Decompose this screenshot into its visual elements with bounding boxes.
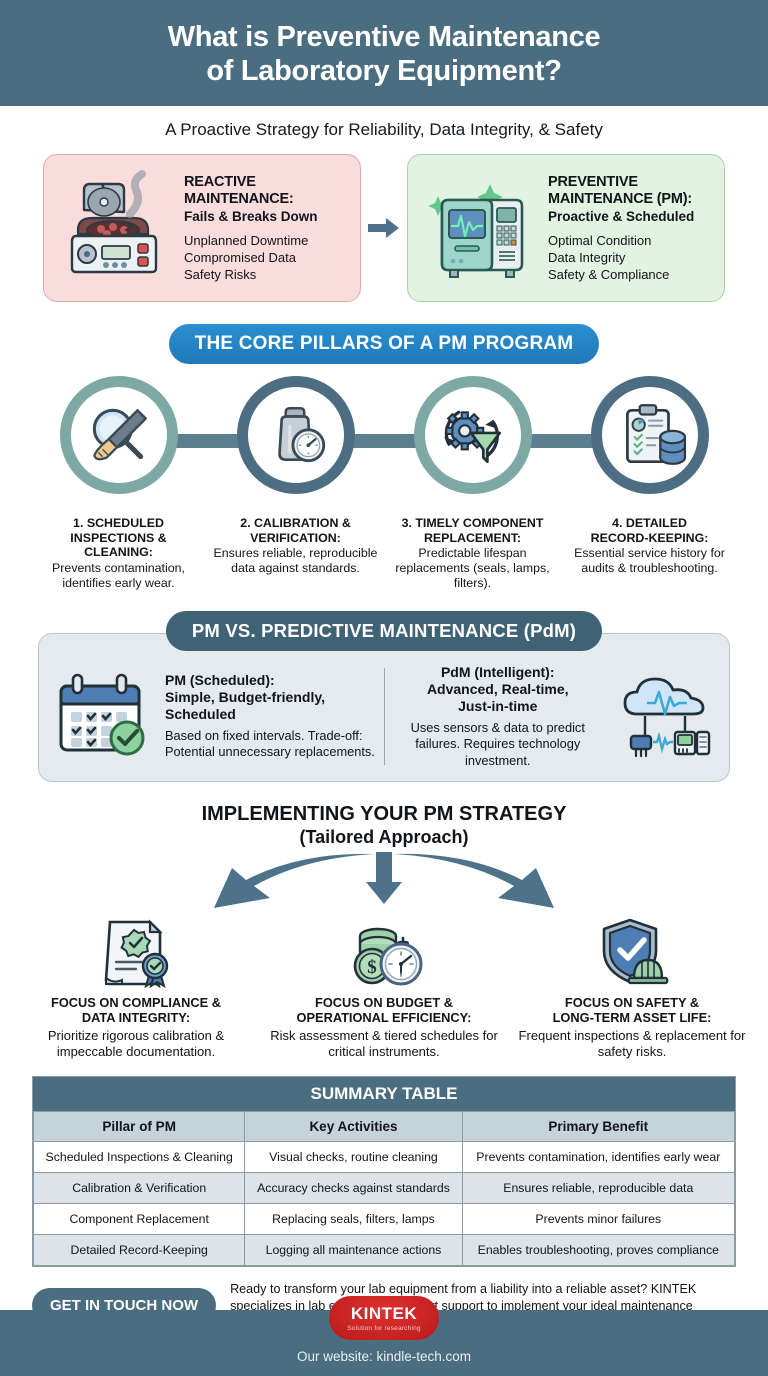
preventive-title-line2: MAINTENANCE (PM):	[548, 191, 692, 207]
reactive-card-subtitle: Fails & Breaks Down	[184, 209, 348, 225]
pillar-circle-3	[384, 376, 561, 494]
pillar-label-4: 4. DETAILED RECORD-KEEPING: Essential se…	[561, 516, 738, 591]
pm-text: PM (Scheduled): Simple, Budget-friendly,…	[165, 672, 376, 760]
focus-title-safety: FOCUS ON SAFETY & LONG-TERM ASSET LIFE:	[514, 995, 750, 1026]
pillar-label-1: 1. SCHEDULED INSPECTIONS & CLEANING: Pre…	[30, 516, 207, 591]
page-title-line2: of Laboratory Equipment?	[206, 55, 561, 87]
pillar-desc-2: Ensures reliable, reproducible data agai…	[213, 546, 378, 576]
preventive-card-title: PREVENTIVE MAINTENANCE (PM):	[548, 174, 712, 208]
kintek-logo-name: KINTEK	[351, 1305, 417, 1322]
reactive-point: Safety Risks	[184, 266, 348, 283]
pillar-title-4: 4. DETAILED RECORD-KEEPING:	[567, 516, 732, 545]
pm-pdm-divider	[384, 668, 385, 765]
pdm-text: PdM (Intelligent): Advanced, Real-time, …	[393, 664, 604, 769]
pm-column: PM (Scheduled): Simple, Budget-friendly,…	[53, 670, 376, 762]
pillar-circle-4	[561, 376, 738, 494]
page-subtitle: A Proactive Strategy for Reliability, Da…	[0, 106, 768, 152]
magnifier-brush-icon	[82, 398, 156, 472]
svg-text:$: $	[367, 957, 377, 978]
pillars-banner-wrap: THE CORE PILLARS OF A PM PROGRAM	[0, 324, 768, 364]
preventive-maintenance-card: PREVENTIVE MAINTENANCE (PM): Proactive &…	[407, 154, 725, 302]
footer-website: Our website: kindle-tech.com	[0, 1349, 768, 1364]
table-cell: Prevents contamination, identifies early…	[462, 1142, 734, 1173]
pillar-desc-1: Prevents contamination, identifies early…	[36, 561, 201, 591]
preventive-card-points: Optimal Condition Data Integrity Safety …	[548, 232, 712, 283]
calendar-check-icon	[53, 670, 157, 762]
strategy-focus-row: FOCUS ON COMPLIANCE & DATA INTEGRITY: Pr…	[0, 910, 768, 1060]
table-cell: Ensures reliable, reproducible data	[462, 1173, 734, 1204]
pillar-label-3: 3. TIMELY COMPONENT REPLACEMENT: Predict…	[384, 516, 561, 591]
focus-item-safety: FOCUS ON SAFETY & LONG-TERM ASSET LIFE: …	[508, 910, 756, 1060]
summary-table: Pillar of PM Key Activities Primary Bene…	[33, 1111, 735, 1266]
table-header-row: Pillar of PM Key Activities Primary Bene…	[34, 1112, 735, 1142]
gear-funnel-cycle-icon	[436, 398, 510, 472]
table-cell: Calibration & Verification	[34, 1173, 245, 1204]
table-cell: Logging all maintenance actions	[245, 1235, 462, 1266]
focus-desc-budget: Risk assessment & tiered schedules for c…	[266, 1028, 502, 1061]
reactive-title-line2: MAINTENANCE:	[184, 191, 294, 207]
preventive-point: Safety & Compliance	[548, 266, 712, 283]
kintek-logo-tagline: Solution for researching	[347, 1325, 420, 1332]
table-row: Detailed Record-Keeping Logging all main…	[34, 1235, 735, 1266]
focus-item-budget: $ FOCUS ON BUD	[260, 910, 508, 1060]
strategy-subtitle: (Tailored Approach)	[0, 826, 768, 849]
table-col-header: Pillar of PM	[34, 1112, 245, 1142]
preventive-point: Optimal Condition	[548, 232, 712, 249]
certificate-seal-icon	[94, 916, 178, 988]
pillar-title-1: 1. SCHEDULED INSPECTIONS & CLEANING:	[36, 516, 201, 560]
table-cell: Detailed Record-Keeping	[34, 1235, 245, 1266]
preventive-card-subtitle: Proactive & Scheduled	[548, 209, 712, 225]
table-row: Component Replacement Replacing seals, f…	[34, 1204, 735, 1235]
focus-title-budget: FOCUS ON BUDGET & OPERATIONAL EFFICIENCY…	[266, 995, 502, 1026]
strategy-title: IMPLEMENTING YOUR PM STRATEGY	[0, 802, 768, 826]
pm-vs-pdm-banner: PM VS. PREDICTIVE MAINTENANCE (PdM)	[166, 611, 602, 651]
comparison-cards: REACTIVE MAINTENANCE: Fails & Breaks Dow…	[0, 154, 768, 302]
table-row: Calibration & Verification Accuracy chec…	[34, 1173, 735, 1204]
table-cell: Enables troubleshooting, proves complian…	[462, 1235, 734, 1266]
table-col-header: Key Activities	[245, 1112, 462, 1142]
page-title-line1: What is Preventive Maintenance	[168, 21, 601, 53]
reactive-point: Unplanned Downtime	[184, 232, 348, 249]
pm-vs-pdm-section: PM VS. PREDICTIVE MAINTENANCE (PdM)	[0, 611, 768, 782]
strategy-section: IMPLEMENTING YOUR PM STRATEGY (Tailored …	[0, 802, 768, 1061]
pdm-column: PdM (Intelligent): Advanced, Real-time, …	[393, 664, 716, 769]
right-arrow-icon	[368, 217, 400, 239]
focus-desc-compliance: Prioritize rigorous calibration & impecc…	[18, 1028, 254, 1061]
page-title: What is Preventive Maintenance of Labora…	[30, 20, 738, 88]
table-cell: Accuracy checks against standards	[245, 1173, 462, 1204]
money-stopwatch-icon: $	[342, 916, 426, 988]
strategy-arrows	[74, 852, 694, 914]
pillar-label-2: 2. CALIBRATION & VERIFICATION: Ensures r…	[207, 516, 384, 591]
pdm-desc: Uses sensors & data to predict failures.…	[393, 720, 604, 768]
pillars-circle-row	[0, 376, 768, 494]
summary-table-title: SUMMARY TABLE	[33, 1077, 735, 1111]
table-col-header: Primary Benefit	[462, 1112, 734, 1142]
pillar-labels-row: 1. SCHEDULED INSPECTIONS & CLEANING: Pre…	[0, 516, 768, 591]
table-row: Scheduled Inspections & Cleaning Visual …	[34, 1142, 735, 1173]
pillar-circle-2	[207, 376, 384, 494]
pillars-banner: THE CORE PILLARS OF A PM PROGRAM	[169, 324, 600, 364]
pm-title: PM (Scheduled): Simple, Budget-friendly,…	[165, 672, 376, 723]
reactive-card-points: Unplanned Downtime Compromised Data Safe…	[184, 232, 348, 283]
infographic-page: What is Preventive Maintenance of Labora…	[0, 0, 768, 1376]
cloud-sensor-icon	[611, 670, 715, 762]
kintek-logo: KINTEK Solution for researching	[329, 1296, 439, 1340]
preventive-title-line1: PREVENTIVE	[548, 174, 638, 190]
focus-item-compliance: FOCUS ON COMPLIANCE & DATA INTEGRITY: Pr…	[12, 910, 260, 1060]
pm-desc: Based on fixed intervals. Trade-off: Pot…	[165, 728, 376, 760]
pillar-desc-4: Essential service history for audits & t…	[567, 546, 732, 576]
table-cell: Scheduled Inspections & Cleaning	[34, 1142, 245, 1173]
reactive-card-title: REACTIVE MAINTENANCE:	[184, 174, 348, 208]
preventive-point: Data Integrity	[548, 249, 712, 266]
reactive-maintenance-card: REACTIVE MAINTENANCE: Fails & Breaks Dow…	[43, 154, 361, 302]
clipboard-database-icon	[613, 398, 687, 472]
transition-arrow	[367, 217, 401, 239]
table-cell: Prevents minor failures	[462, 1204, 734, 1235]
pillar-circle-1	[30, 376, 207, 494]
table-cell: Replacing seals, filters, lamps	[245, 1204, 462, 1235]
page-header: What is Preventive Maintenance of Labora…	[0, 0, 768, 106]
focus-desc-safety: Frequent inspections & replacement for s…	[514, 1028, 750, 1061]
pillars-diagram	[0, 376, 768, 506]
pillar-title-3: 3. TIMELY COMPONENT REPLACEMENT:	[390, 516, 555, 545]
shield-hardhat-icon	[590, 916, 674, 988]
healthy-analyzer-icon	[420, 168, 540, 288]
pillar-desc-3: Predictable lifespan replacements (seals…	[390, 546, 555, 591]
table-cell: Visual checks, routine cleaning	[245, 1142, 462, 1173]
broken-centrifuge-icon	[56, 168, 176, 288]
reactive-point: Compromised Data	[184, 249, 348, 266]
table-cell: Component Replacement	[34, 1204, 245, 1235]
summary-table-wrap: SUMMARY TABLE Pillar of PM Key Activitie…	[32, 1076, 736, 1267]
reactive-card-text: REACTIVE MAINTENANCE: Fails & Breaks Dow…	[184, 174, 348, 284]
pdm-title: PdM (Intelligent): Advanced, Real-time, …	[393, 664, 604, 715]
preventive-card-text: PREVENTIVE MAINTENANCE (PM): Proactive &…	[548, 174, 712, 284]
focus-title-compliance: FOCUS ON COMPLIANCE & DATA INTEGRITY:	[18, 995, 254, 1026]
pm-vs-pdm-box: PM (Scheduled): Simple, Budget-friendly,…	[38, 633, 730, 782]
calibration-weight-gauge-icon	[259, 398, 333, 472]
reactive-title-line1: REACTIVE	[184, 174, 256, 190]
pillar-title-2: 2. CALIBRATION & VERIFICATION:	[213, 516, 378, 545]
